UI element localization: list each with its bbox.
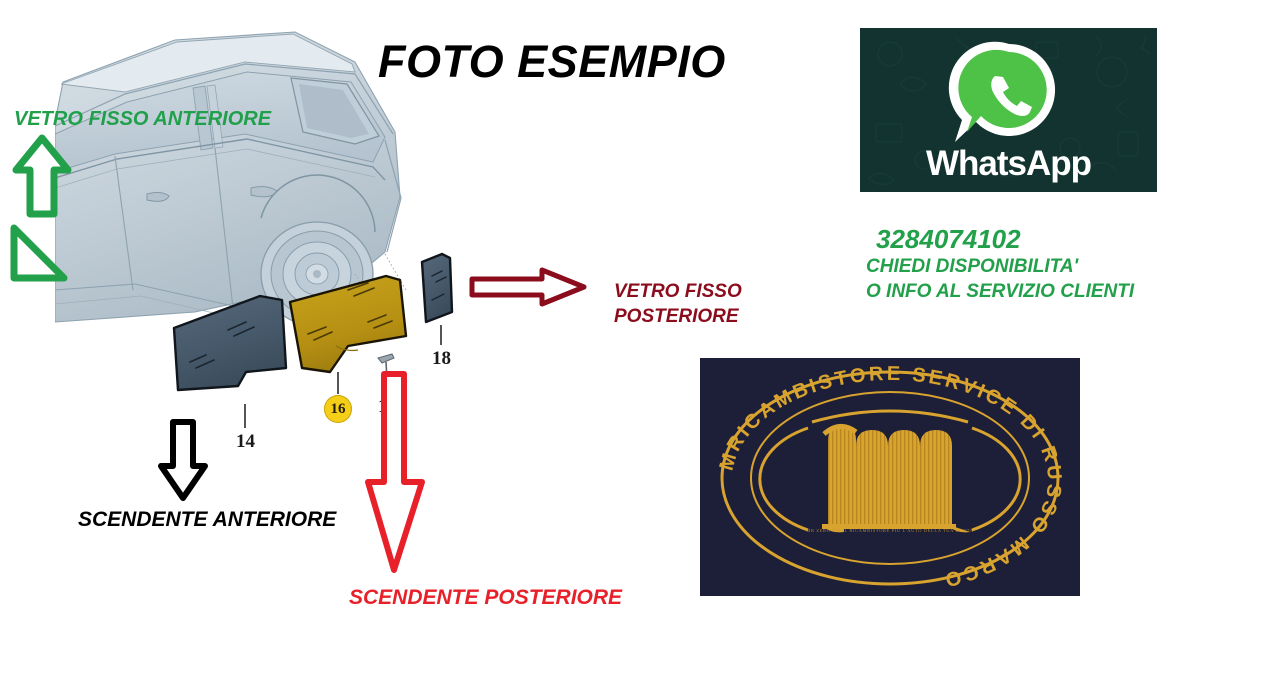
label-rear-fixed-glass-line2: POSTERIORE xyxy=(614,304,794,329)
whatsapp-wordmark: WhatsApp xyxy=(860,144,1157,184)
company-logo-tagline: MR ZERO KM IL RICAMBISTORE PIU L'AUTO DE… xyxy=(700,528,1080,533)
glass-parts-illustration xyxy=(150,250,480,430)
part-18-shape xyxy=(422,254,452,322)
part-14-shape xyxy=(174,296,286,390)
leader-line-14 xyxy=(244,404,246,428)
label-rear-drop-glass: SCENDENTE POSTERIORE xyxy=(349,586,622,610)
company-logo: MRICAMBISTORE SERVICE DI RUSSO MARCO MR … xyxy=(700,358,1080,596)
green-triangle-icon xyxy=(4,220,70,286)
label-front-drop-glass: SCENDENTE ANTERIORE xyxy=(78,508,336,532)
red-down-arrow-icon xyxy=(362,370,428,576)
label-front-fixed-glass: VETRO FISSO ANTERIORE xyxy=(14,108,271,131)
part-badge-16: 16 xyxy=(324,395,352,423)
green-up-arrow-icon xyxy=(4,132,80,220)
page-title: FOTO ESEMPIO xyxy=(378,36,726,88)
phone-number: 3284074102 xyxy=(876,224,1196,254)
part-label-18: 18 xyxy=(432,348,451,370)
black-down-arrow-icon xyxy=(155,418,211,502)
whatsapp-logo-icon xyxy=(945,38,1073,150)
leader-line-18 xyxy=(440,325,442,345)
contact-block: 3284074102 CHIEDI DISPONIBILITA' O INFO … xyxy=(866,224,1196,304)
label-rear-fixed-glass: VETRO FISSO POSTERIORE xyxy=(614,279,794,329)
label-rear-fixed-glass-line1: VETRO FISSO xyxy=(614,279,794,304)
part-label-14: 14 xyxy=(236,431,255,453)
dark-red-right-arrow-icon xyxy=(468,266,588,308)
contact-line-1: CHIEDI DISPONIBILITA' xyxy=(866,254,1196,279)
whatsapp-banner: WhatsApp xyxy=(860,28,1157,192)
contact-line-2: O INFO AL SERVIZIO CLIENTI xyxy=(866,279,1196,304)
leader-line-16 xyxy=(337,372,339,394)
